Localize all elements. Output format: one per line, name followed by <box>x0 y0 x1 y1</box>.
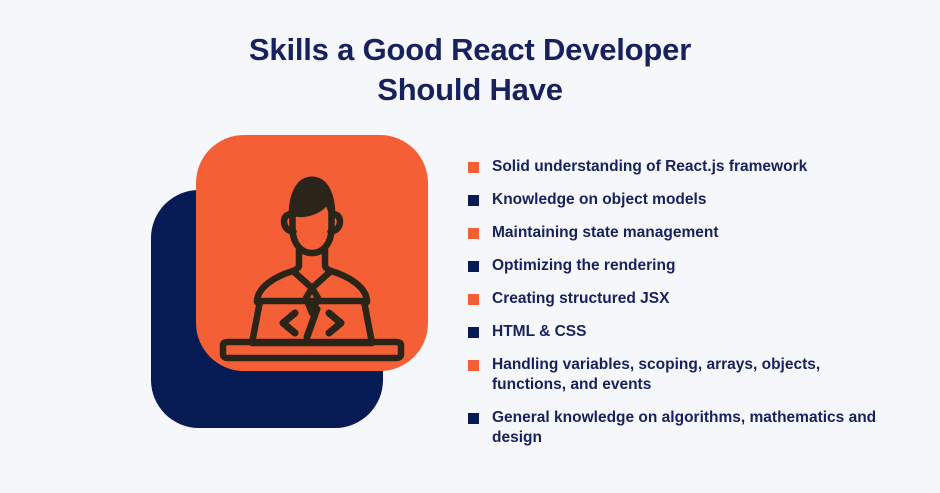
bullet-square-icon <box>468 327 479 338</box>
list-item-label: Knowledge on object models <box>492 190 706 210</box>
skills-list: Solid understanding of React.js framewor… <box>468 157 888 461</box>
list-item: General knowledge on algorithms, mathema… <box>468 408 888 448</box>
list-item: Solid understanding of React.js framewor… <box>468 157 888 177</box>
page-title-line-1: Skills a Good React Developer <box>0 30 940 70</box>
bullet-square-icon <box>468 261 479 272</box>
list-item-label: General knowledge on algorithms, mathema… <box>492 408 888 448</box>
list-item-label: Maintaining state management <box>492 223 719 243</box>
list-item-label: HTML & CSS <box>492 322 586 342</box>
list-item: Maintaining state management <box>468 223 888 243</box>
list-item: Knowledge on object models <box>468 190 888 210</box>
infographic-canvas: Skills a Good React Developer Should Hav… <box>0 0 940 493</box>
bullet-square-icon <box>468 294 479 305</box>
bullet-square-icon <box>468 195 479 206</box>
page-title: Skills a Good React Developer Should Hav… <box>0 30 940 110</box>
bullet-square-icon <box>468 228 479 239</box>
list-item: Handling variables, scoping, arrays, obj… <box>468 355 888 395</box>
list-item: Optimizing the rendering <box>468 256 888 276</box>
page-title-line-2: Should Have <box>0 70 940 110</box>
bullet-square-icon <box>468 162 479 173</box>
list-item: Creating structured JSX <box>468 289 888 309</box>
artwork-illustration <box>151 135 431 430</box>
list-item: HTML & CSS <box>468 322 888 342</box>
list-item-label: Creating structured JSX <box>492 289 669 309</box>
developer-at-laptop-icon <box>196 135 428 371</box>
bullet-square-icon <box>468 360 479 371</box>
list-item-label: Optimizing the rendering <box>492 256 675 276</box>
list-item-label: Solid understanding of React.js framewor… <box>492 157 807 177</box>
list-item-label: Handling variables, scoping, arrays, obj… <box>492 355 888 395</box>
bullet-square-icon <box>468 413 479 424</box>
